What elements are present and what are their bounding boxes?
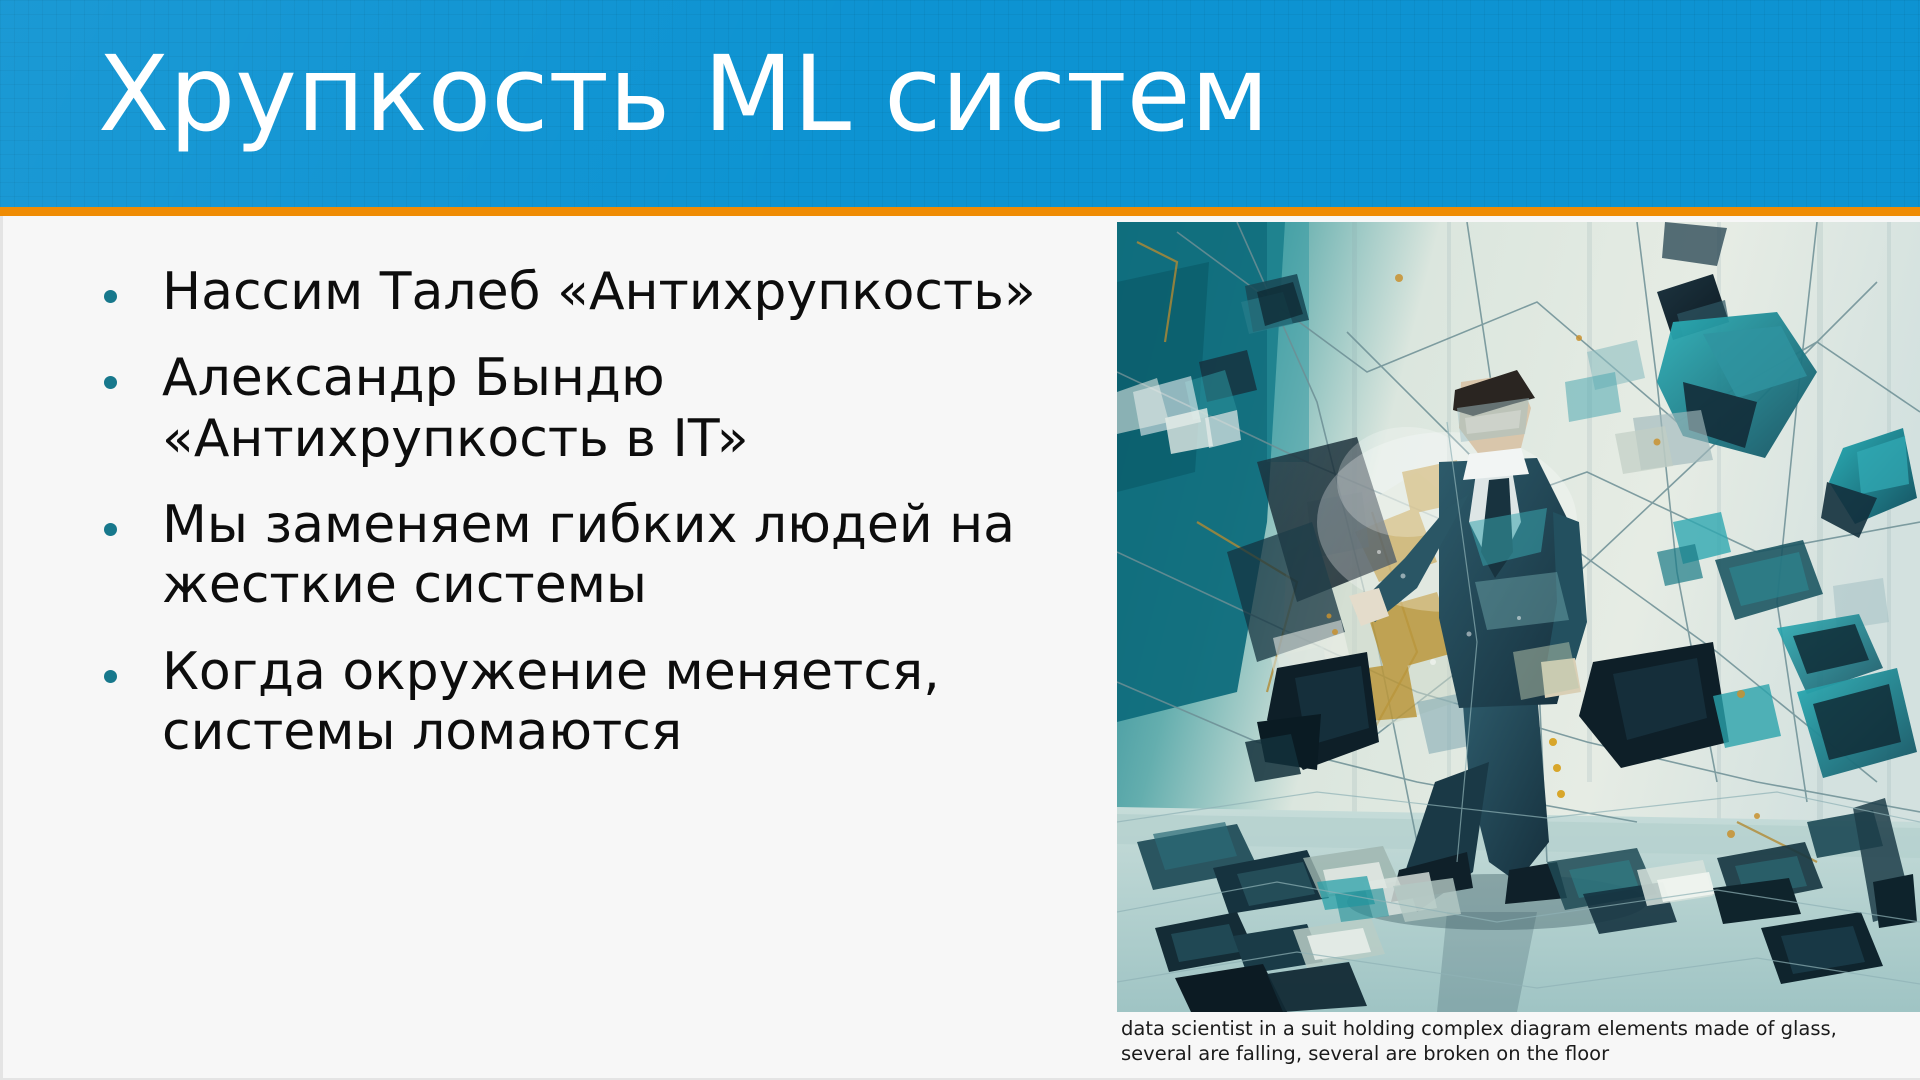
bullet-dot-icon: [104, 290, 117, 303]
slide-left-edge: [0, 216, 3, 1080]
image-caption: data scientist in a suit holding complex…: [1121, 1017, 1911, 1067]
list-item: Нассим Талеб «Антихрупкость»: [104, 262, 1084, 322]
bullet-text: Когда окружение меняется, системы ломают…: [162, 642, 1084, 763]
title-band: Хрупкость ML систем: [0, 0, 1920, 207]
slide-image-block: [1117, 222, 1920, 1012]
shattering-glass-illustration: [1117, 222, 1920, 1012]
page-title: Хрупкость ML систем: [98, 36, 1269, 152]
list-item: Мы заменяем гибких людей на жесткие сист…: [104, 495, 1084, 616]
bullet-text: Александр Бындю «Антихрупкость в IT»: [162, 348, 1084, 469]
bullet-marker: [104, 495, 162, 540]
title-underline-rule: [0, 207, 1920, 216]
bullet-marker: [104, 262, 162, 307]
bullet-marker: [104, 642, 162, 687]
bullet-marker: [104, 348, 162, 393]
bullet-text: Мы заменяем гибких людей на жесткие сист…: [162, 495, 1084, 616]
slide: Хрупкость ML систем Нассим Талеб «Антихр…: [0, 0, 1920, 1080]
bullet-dot-icon: [104, 523, 117, 536]
bullet-dot-icon: [104, 376, 117, 389]
bullet-text: Нассим Талеб «Антихрупкость»: [162, 262, 1084, 322]
list-item: Когда окружение меняется, системы ломают…: [104, 642, 1084, 763]
slide-image: [1117, 222, 1920, 1012]
bullet-list: Нассим Талеб «Антихрупкость» Александр Б…: [104, 262, 1084, 788]
list-item: Александр Бындю «Антихрупкость в IT»: [104, 348, 1084, 469]
bullet-dot-icon: [104, 670, 117, 683]
